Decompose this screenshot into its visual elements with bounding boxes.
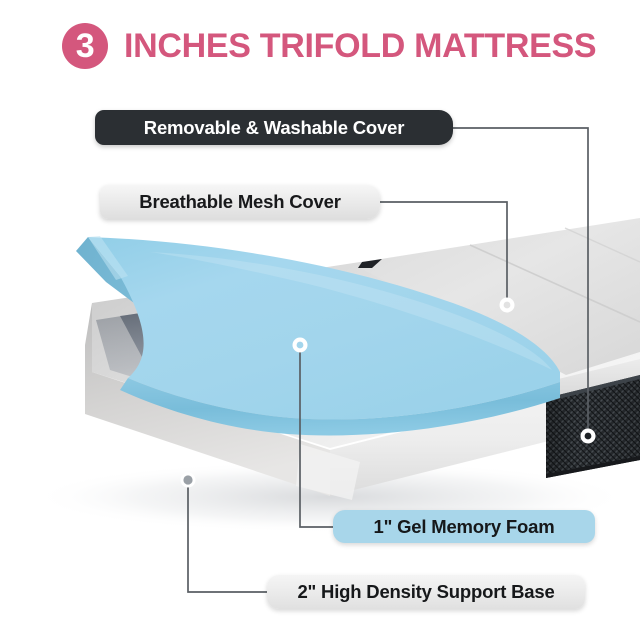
mattress-diagram-svg xyxy=(0,0,640,640)
callout-dot-mesh-cover-hole xyxy=(504,302,511,309)
mattress-illustration xyxy=(0,0,640,640)
callout-label-text: Removable & Washable Cover xyxy=(95,117,453,139)
callout-dot-removable-cover-hole xyxy=(585,433,592,440)
callout-label-text: 1" Gel Memory Foam xyxy=(333,516,595,538)
callout-label-gel-memory-foam[interactable]: 1" Gel Memory Foam xyxy=(333,510,595,543)
callout-label-text: Breathable Mesh Cover xyxy=(100,191,380,213)
inches-badge: 3 xyxy=(62,23,108,69)
page-title: INCHES TRIFOLD MATTRESS xyxy=(124,27,596,66)
callout-dot-gel-foam-hole xyxy=(297,342,304,349)
callout-label-removable-washable-cover[interactable]: Removable & Washable Cover xyxy=(95,110,453,145)
callout-label-text: 2" High Density Support Base xyxy=(267,581,585,603)
callout-label-high-density-support-base[interactable]: 2" High Density Support Base xyxy=(267,575,585,609)
callout-dot-support-base-hole xyxy=(183,475,192,484)
callout-label-breathable-mesh-cover[interactable]: Breathable Mesh Cover xyxy=(100,185,380,219)
page-header: 3 INCHES TRIFOLD MATTRESS xyxy=(0,0,640,92)
